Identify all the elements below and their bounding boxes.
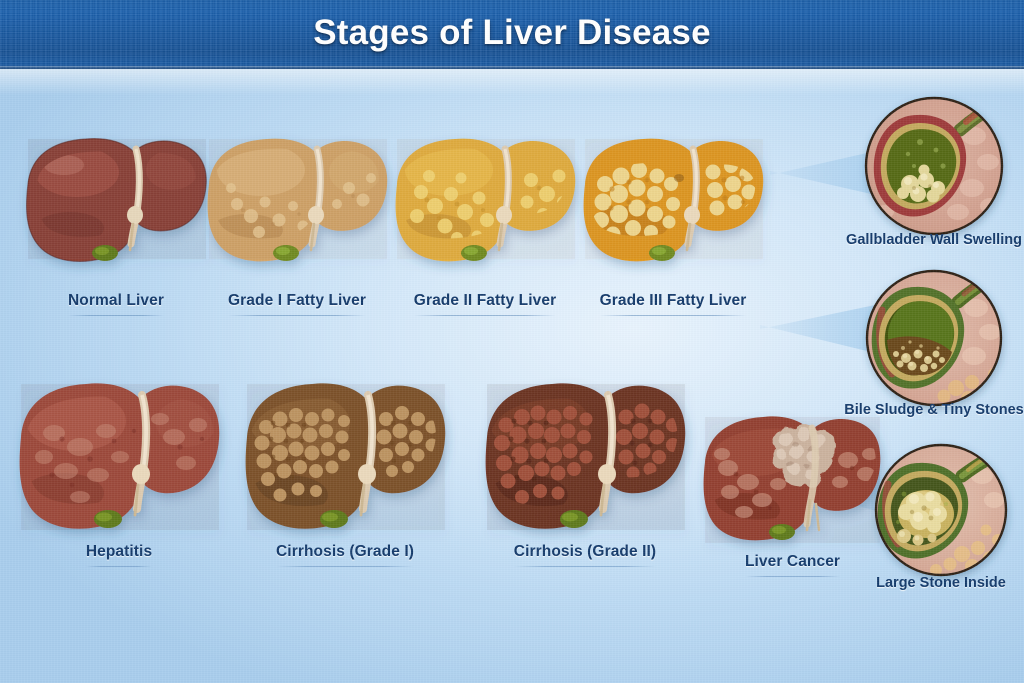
stage-label-text: Normal Liver: [68, 292, 164, 309]
stage-hepatitis: Hepatitis: [14, 375, 224, 530]
gallbladder-wall-swelling-illustration: [848, 96, 1020, 236]
stage-label: Cirrhosis (Grade I): [276, 543, 414, 567]
stage-label: Cirrhosis (Grade II): [514, 543, 656, 567]
stage-cirrhosis-grade-2: Cirrhosis (Grade II): [480, 375, 690, 530]
label-underline: [414, 315, 556, 316]
cirrhosis-grade-2-illustration: [480, 375, 690, 530]
label-underline: [86, 566, 152, 567]
liver-disease-infographic: Stages of Liver Disease: [0, 0, 1024, 683]
stage-label-text: Cirrhosis (Grade II): [514, 543, 656, 560]
inset-label-text: Large Stone Inside: [876, 575, 1006, 591]
stage-grade-3-fatty-liver: Grade III Fatty Liver: [579, 132, 767, 262]
inset-large-stone-inside: Large Stone Inside: [858, 442, 1024, 582]
label-underline: [228, 315, 366, 316]
inset-label: Large Stone Inside: [876, 575, 1006, 591]
cirrhosis-grade-1-illustration: [240, 375, 450, 530]
stage-label-text: Grade I Fatty Liver: [228, 292, 366, 309]
stage-label: Grade I Fatty Liver: [228, 292, 366, 316]
stage-grade-2-fatty-liver: Grade II Fatty Liver: [391, 132, 579, 262]
inset-label: Gallbladder Wall Swelling: [846, 232, 1022, 248]
inset-gallbladder-wall-swelling: Gallbladder Wall Swelling: [848, 96, 1020, 236]
header-sheen: [0, 69, 1024, 95]
stage-label-text: Grade II Fatty Liver: [414, 292, 556, 309]
inset-label-text: Gallbladder Wall Swelling: [846, 232, 1022, 248]
title-bar: Stages of Liver Disease: [0, 0, 1024, 69]
page-title: Stages of Liver Disease: [0, 0, 1024, 66]
stage-label-text: Grade III Fatty Liver: [600, 292, 747, 309]
inset-label-text: Bile Sludge & Tiny Stones: [844, 402, 1023, 418]
label-underline: [600, 315, 747, 316]
inset-label: Bile Sludge & Tiny Stones: [844, 402, 1023, 418]
label-underline: [276, 566, 414, 567]
label-underline: [68, 315, 164, 316]
stage-label: Liver Cancer: [745, 553, 840, 577]
grade-3-fatty-liver-illustration: [579, 132, 767, 262]
grade-2-fatty-liver-illustration: [391, 132, 579, 262]
stage-label: Grade III Fatty Liver: [600, 292, 747, 316]
stage-label-text: Hepatitis: [86, 543, 152, 560]
hepatitis-illustration: [14, 375, 224, 530]
label-underline: [745, 576, 840, 577]
grade-1-fatty-liver-illustration: [203, 132, 391, 262]
stage-label: Grade II Fatty Liver: [414, 292, 556, 316]
stage-grade-1-fatty-liver: Grade I Fatty Liver: [203, 132, 391, 262]
stage-cirrhosis-grade-1: Cirrhosis (Grade I): [240, 375, 450, 530]
normal-liver-illustration: [22, 132, 210, 262]
stage-label-text: Cirrhosis (Grade I): [276, 543, 414, 560]
label-underline: [514, 566, 656, 567]
stage-normal-liver: Normal Liver: [22, 132, 210, 262]
stage-label-text: Liver Cancer: [745, 553, 840, 570]
bile-sludge-tiny-stones-illustration: [848, 270, 1020, 410]
stage-label: Normal Liver: [68, 292, 164, 316]
large-stone-inside-illustration: [858, 442, 1024, 582]
inset-bile-sludge-tiny-stones: Bile Sludge & Tiny Stones: [848, 270, 1020, 410]
stage-label: Hepatitis: [86, 543, 152, 567]
